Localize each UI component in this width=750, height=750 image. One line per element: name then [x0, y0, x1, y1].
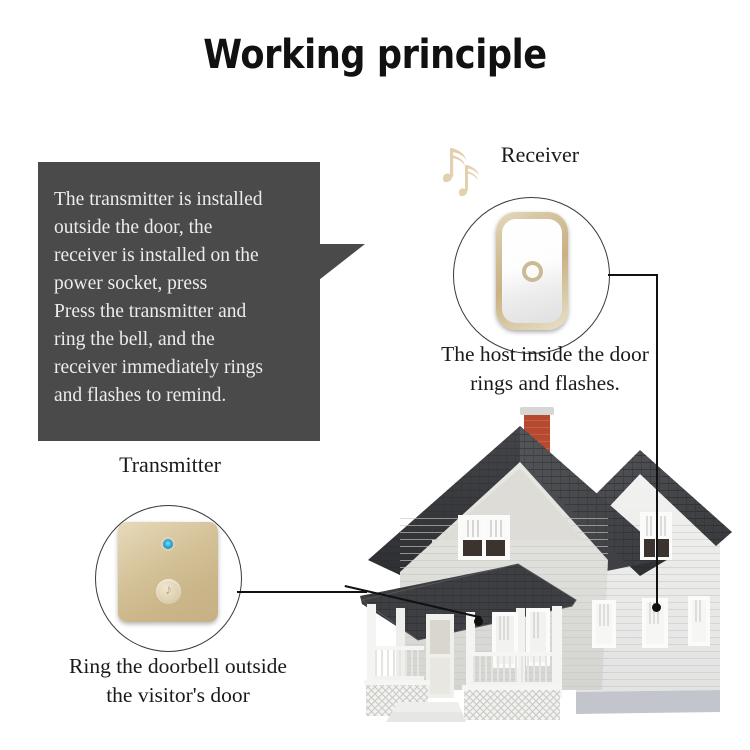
callout-bubble-tail [319, 244, 365, 280]
house-illustration [340, 400, 750, 730]
receiver-connector-horizontal [608, 274, 658, 276]
window-upper-front [458, 515, 510, 560]
transmitter-device[interactable]: ♪ [118, 522, 218, 622]
callout-bubble: The transmitter is installed outside the… [38, 162, 320, 441]
transmitter-connector-horizontal [237, 591, 367, 593]
bell-glyph: ♪ [165, 583, 172, 599]
receiver-caption: The host inside the door rings and flash… [400, 340, 690, 398]
window-lower-right-a [592, 600, 616, 648]
window-lower-right-c [688, 596, 710, 646]
callout-text: The transmitter is installed outside the… [54, 186, 312, 410]
receiver-device[interactable] [496, 212, 568, 330]
transmitter-connection-dot [474, 617, 483, 626]
porch-base [364, 680, 562, 722]
receiver-faceplate [502, 219, 562, 323]
receiver-connector-vertical [656, 274, 658, 608]
receiver-ring-button[interactable] [522, 261, 543, 282]
transmitter-label: Transmitter [60, 452, 280, 478]
led-indicator-icon [163, 539, 173, 549]
receiver-connection-dot [652, 603, 661, 612]
working-principle-diagram: Working principle The transmitter is ins… [0, 0, 750, 750]
page-title: Working principle [45, 32, 705, 78]
music-notes-icon [433, 140, 495, 202]
doorbell-press-button[interactable]: ♪ [156, 579, 181, 604]
transmitter-caption: Ring the doorbell outside the visitor's … [28, 652, 328, 710]
